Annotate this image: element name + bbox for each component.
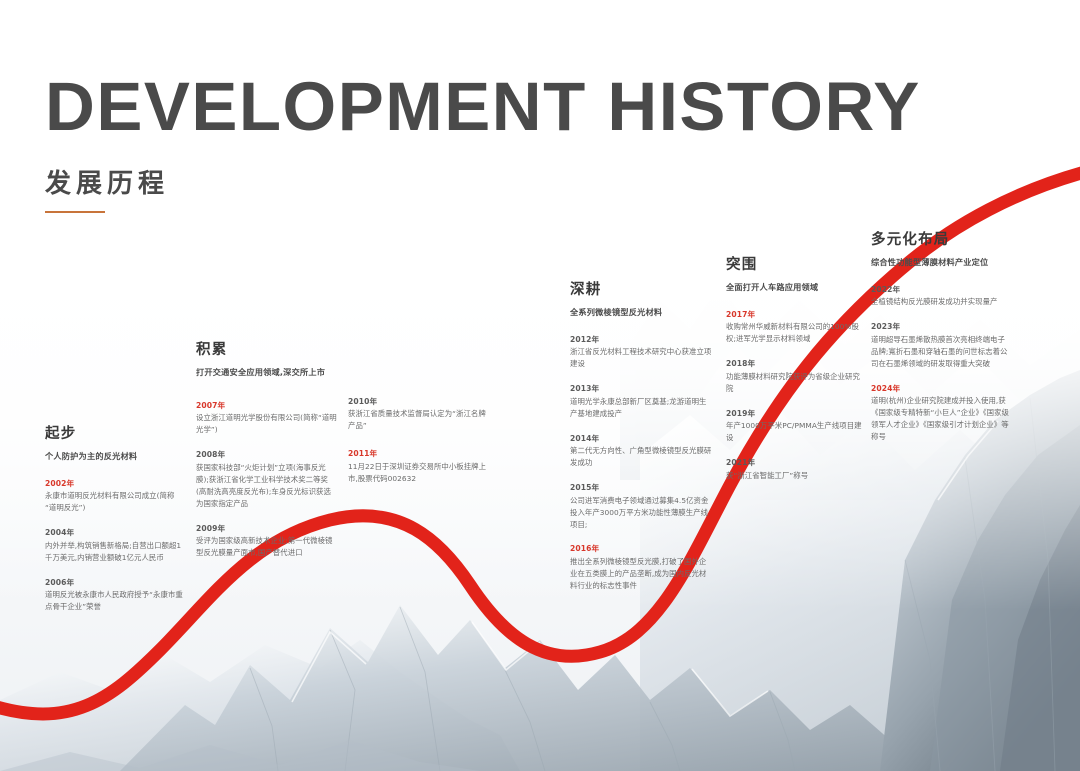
timeline-entry: 2015年 公司进军消费电子领域通过募集4.5亿资金投入年产3000万平方米功能…	[570, 482, 712, 530]
timeline-column-duoyuanhua: 多元化布局 综合性功能型薄膜材料产业定位 2022年 全植镜结构反光膜研发成功并…	[871, 228, 1011, 443]
column-subheading: 全面打开人车路应用领域	[726, 282, 866, 293]
entry-body: 11月22日于深圳证券交易所中小板挂牌上市,股票代码002632	[348, 461, 493, 485]
column-heading: 起步	[45, 422, 185, 443]
entry-year: 2019年	[726, 408, 866, 419]
entry-year: 2007年	[196, 400, 338, 411]
column-subheading: 个人防护为主的反光材料	[45, 451, 185, 462]
entry-body: 获“浙江省智能工厂”称号	[726, 470, 866, 482]
timeline-entry: 2011年 11月22日于深圳证券交易所中小板挂牌上市,股票代码002632	[348, 448, 493, 484]
timeline-entry: 2024年 道明(杭州)企业研究院建成并投入使用,获《国家级专精特新“小巨人”企…	[871, 383, 1011, 443]
page-title-chinese: 发展历程	[45, 163, 921, 200]
entry-body: 永康市道明反光材料有限公司成立(简称“道明反光”)	[45, 490, 185, 514]
column-subheading: 全系列微棱镜型反光材料	[570, 307, 712, 318]
entry-body: 道明超导石墨烯散热膜首次亮相终端电子品牌;寬折石墨和穿轴石墨的问世标志着公司在石…	[871, 334, 1011, 370]
timeline-entry: 2010年 获浙江省质量技术监督局认定为“浙江名牌产品”	[348, 396, 493, 432]
right-massif-shadow	[930, 425, 1080, 771]
timeline-column-jilei-secondary: 2010年 获浙江省质量技术监督局认定为“浙江名牌产品” 2011年 11月22…	[348, 396, 493, 485]
column-heading: 深耕	[570, 278, 712, 299]
entry-body: 收购常州华威新材料有限公司的100%股权;进军光学显示材料领域	[726, 321, 866, 345]
entry-year: 2009年	[196, 523, 338, 534]
entry-body: 道明(杭州)企业研究院建成并投入使用,获《国家级专精特新“小巨人”企业》《国家级…	[871, 395, 1011, 443]
entry-year: 2023年	[871, 321, 1011, 332]
timeline-entry: 2002年 永康市道明反光材料有限公司成立(简称“道明反光”)	[45, 478, 185, 514]
entry-year: 2002年	[45, 478, 185, 489]
entry-year: 2014年	[570, 433, 712, 444]
title-underline-rule	[45, 211, 105, 213]
entry-body: 内外并举,构筑销售新格局;自营出口额超1千万美元,内销营业额破1亿元人民币	[45, 540, 185, 564]
timeline-entry: 2009年 受评为国家级高新技术企业;第一代微棱镜型反光膜量产面市,国产替代进口	[196, 523, 338, 559]
entry-year: 2006年	[45, 577, 185, 588]
poster-header: DEVELOPMENT HISTORY 发展历程	[45, 72, 921, 213]
entry-year: 2024年	[871, 383, 1011, 394]
left-ridge	[0, 640, 520, 771]
entry-body: 第二代无方向性、广角型微棱镜型反光膜研发成功	[570, 445, 712, 469]
right-massif-dark	[1000, 505, 1080, 771]
entry-year: 2017年	[726, 309, 866, 320]
entry-year: 2008年	[196, 449, 338, 460]
entry-body: 年产1000万平米PC/PMMA生产线项目建设	[726, 420, 866, 444]
central-peaks	[120, 605, 1080, 771]
entry-body: 受评为国家级高新技术企业;第一代微棱镜型反光膜量产面市,国产替代进口	[196, 535, 338, 559]
entry-body: 推出全系列微棱镜型反光膜,打破了国外企业在五类膜上的产品垄断,成为国内反光材料行…	[570, 556, 712, 592]
timeline-entry: 2021年 获“浙江省智能工厂”称号	[726, 457, 866, 481]
development-history-poster: DEVELOPMENT HISTORY 发展历程 起步 个人防护为主的反光材料 …	[0, 0, 1080, 771]
timeline-entry: 2023年 道明超导石墨烯散热膜首次亮相终端电子品牌;寬折石墨和穿轴石墨的问世标…	[871, 321, 1011, 369]
timeline-column-tuwei: 突围 全面打开人车路应用领域 2017年 收购常州华威新材料有限公司的100%股…	[726, 253, 866, 482]
timeline-entry: 2016年 推出全系列微棱镜型反光膜,打破了国外企业在五类膜上的产品垄断,成为国…	[570, 543, 712, 591]
timeline-entry: 2022年 全植镜结构反光膜研发成功并实现量产	[871, 284, 1011, 308]
entry-year: 2015年	[570, 482, 712, 493]
column-heading: 突围	[726, 253, 866, 274]
entry-year: 2013年	[570, 383, 712, 394]
entry-body: 获国家科技部“火炬计划”立项(海事反光膜);获浙江省化学工业科学技术奖二等奖(高…	[196, 462, 338, 510]
column-heading: 多元化布局	[871, 228, 1011, 249]
column-heading: 积累	[196, 338, 338, 359]
entry-year: 2011年	[348, 448, 493, 459]
column-subheading: 打开交通安全应用领域,深交所上市	[196, 367, 338, 378]
column-subheading: 综合性功能型薄膜材料产业定位	[871, 257, 1011, 268]
entry-body: 道明光学永康总部新厂区奠基;龙游道明生产基地建成投产	[570, 396, 712, 420]
entry-body: 功能薄膜材料研究院获评为省级企业研究院	[726, 371, 866, 395]
entry-year: 2010年	[348, 396, 493, 407]
entry-year: 2022年	[871, 284, 1011, 295]
entry-body: 设立浙江道明光学股份有限公司(简称“道明光学”)	[196, 412, 338, 436]
timeline-entry: 2019年 年产1000万平米PC/PMMA生产线项目建设	[726, 408, 866, 444]
entry-body: 浙江省反光材料工程技术研究中心获准立项建设	[570, 346, 712, 370]
foreground-rock	[0, 740, 480, 771]
entry-year: 2016年	[570, 543, 712, 554]
entry-year: 2021年	[726, 457, 866, 468]
entry-year: 2012年	[570, 334, 712, 345]
timeline-entry: 2017年 收购常州华威新材料有限公司的100%股权;进军光学显示材料领域	[726, 309, 866, 345]
timeline-column-qibu: 起步 个人防护为主的反光材料 2002年 永康市道明反光材料有限公司成立(简称“…	[45, 422, 185, 613]
entry-year: 2018年	[726, 358, 866, 369]
timeline-column-jilei: 积累 打开交通安全应用领域,深交所上市 2007年 设立浙江道明光学股份有限公司…	[196, 338, 338, 559]
entry-body: 获浙江省质量技术监督局认定为“浙江名牌产品”	[348, 408, 493, 432]
timeline-entry: 2014年 第二代无方向性、广角型微棱镜型反光膜研发成功	[570, 433, 712, 469]
timeline-entry: 2012年 浙江省反光材料工程技术研究中心获准立项建设	[570, 334, 712, 370]
timeline-entry: 2004年 内外并举,构筑销售新格局;自营出口额超1千万美元,内销营业额破1亿元…	[45, 527, 185, 563]
timeline-entry: 2007年 设立浙江道明光学股份有限公司(简称“道明光学”)	[196, 400, 338, 436]
entry-body: 道明反光被永康市人民政府授予“永康市重点骨干企业”荣誉	[45, 589, 185, 613]
entry-body: 公司进军消费电子领域通过募集4.5亿资金投入年产3000万平方米功能性薄膜生产线…	[570, 495, 712, 531]
timeline-entry: 2006年 道明反光被永康市人民政府授予“永康市重点骨干企业”荣誉	[45, 577, 185, 613]
timeline-column-shengeng: 深耕 全系列微棱镜型反光材料 2012年 浙江省反光材料工程技术研究中心获准立项…	[570, 278, 712, 592]
timeline-entry: 2008年 获国家科技部“火炬计划”立项(海事反光膜);获浙江省化学工业科学技术…	[196, 449, 338, 509]
entry-year: 2004年	[45, 527, 185, 538]
entry-body: 全植镜结构反光膜研发成功并实现量产	[871, 296, 1011, 308]
timeline-entry: 2013年 道明光学永康总部新厂区奠基;龙游道明生产基地建成投产	[570, 383, 712, 419]
page-title-english: DEVELOPMENT HISTORY	[45, 72, 921, 141]
timeline-entry: 2018年 功能薄膜材料研究院获评为省级企业研究院	[726, 358, 866, 394]
